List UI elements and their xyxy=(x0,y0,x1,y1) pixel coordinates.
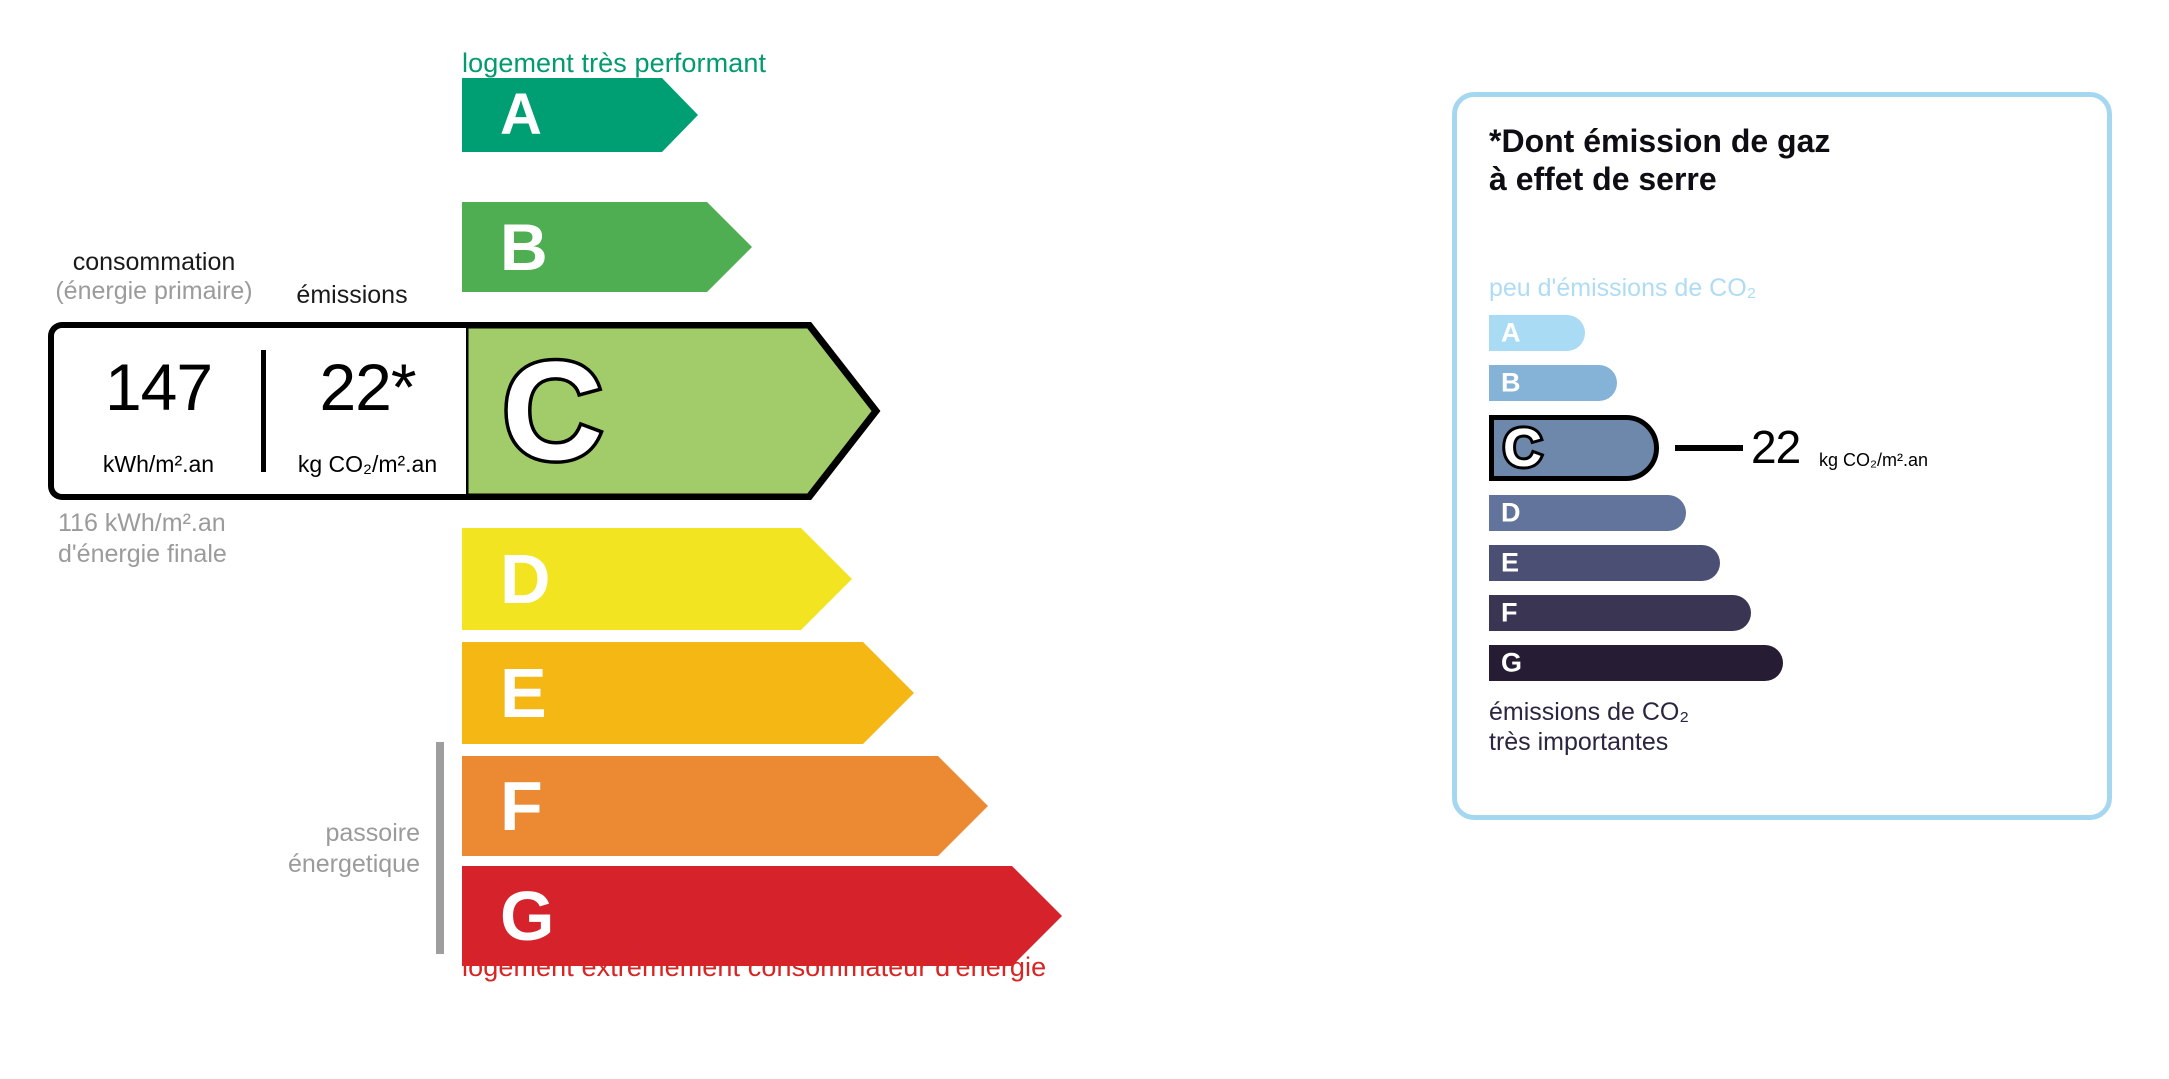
co2-bar-b-letter: B xyxy=(1501,370,1521,397)
co2-bar-d-letter: D xyxy=(1501,500,1521,527)
energy-band-f-shape xyxy=(462,756,988,856)
passoire-indicator-bar xyxy=(436,742,444,954)
dpe-energy-label: logement très performant A B C xyxy=(0,0,2169,1079)
co2-bar-g-shape xyxy=(1489,645,1783,681)
final-energy-note: 116 kWh/m².an d'énergie finale xyxy=(58,508,227,569)
energy-band-g-shape xyxy=(462,866,1062,966)
co2-bar-c-letter: C xyxy=(1503,421,1542,475)
passoire-label: passoire énergetique xyxy=(240,818,420,879)
energy-band-c-current: C xyxy=(462,322,882,500)
energy-performance-chart: logement très performant A B C xyxy=(0,0,1330,1079)
emissions-unit: kg CO₂/m².an xyxy=(263,453,472,476)
co2-bottom-line1: émissions de CO₂ xyxy=(1489,697,1689,727)
top-caption-very-efficient: logement très performant xyxy=(462,48,766,79)
co2-bar-g-letter: G xyxy=(1501,650,1522,677)
co2-panel-title: *Dont émission de gaz à effet de serre xyxy=(1489,122,1830,199)
co2-callout-leader-line xyxy=(1675,445,1743,451)
co2-callout-value: 22 xyxy=(1751,424,1800,470)
final-energy-line2: d'énergie finale xyxy=(58,539,227,570)
passoire-line2: énergetique xyxy=(240,849,420,880)
energy-band-e-shape xyxy=(462,642,914,744)
co2-bar-f-shape xyxy=(1489,595,1751,631)
energy-band-b: B xyxy=(462,202,752,292)
energy-band-a-shape xyxy=(462,78,698,152)
emissions-value: 22* xyxy=(263,354,472,420)
co2-bar-a-letter: A xyxy=(1501,320,1521,347)
final-energy-line1: 116 kWh/m².an xyxy=(58,508,227,539)
co2-bottom-line2: très importantes xyxy=(1489,727,1689,757)
energy-band-f: F xyxy=(462,756,988,856)
label-consumption-line2: (énergie primaire) xyxy=(48,277,260,306)
label-consumption-line1: consommation xyxy=(73,248,236,276)
co2-bar-e-letter: E xyxy=(1501,550,1519,577)
co2-callout-unit: kg CO₂/m².an xyxy=(1819,451,1928,469)
co2-title-line2: à effet de serre xyxy=(1489,160,1830,198)
consumption-value: 147 xyxy=(54,354,263,420)
co2-emissions-panel: *Dont émission de gaz à effet de serre p… xyxy=(1452,92,2112,820)
energy-band-b-shape xyxy=(462,202,752,292)
co2-bar-f-letter: F xyxy=(1501,600,1518,627)
co2-top-caption: peu d'émissions de CO₂ xyxy=(1489,274,1756,303)
co2-bar-e-shape xyxy=(1489,545,1720,581)
energy-band-g: G xyxy=(462,866,1062,966)
energy-band-e: E xyxy=(462,642,914,744)
energy-band-d: D xyxy=(462,528,852,630)
consumption-unit: kWh/m².an xyxy=(54,453,263,476)
energy-band-a: A xyxy=(462,78,698,152)
energy-band-c-shape xyxy=(462,322,882,500)
consumption-cell: 147 kWh/m².an xyxy=(54,328,263,494)
bottom-caption-very-consuming: logement extrêmement consommateur d'éner… xyxy=(462,952,1046,983)
values-box: 147 kWh/m².an 22* kg CO₂/m².an xyxy=(48,322,466,500)
co2-title-line1: *Dont émission de gaz xyxy=(1489,122,1830,160)
label-emissions: émissions xyxy=(268,281,436,310)
energy-band-d-shape xyxy=(462,528,852,630)
label-consumption: consommation (énergie primaire) xyxy=(48,248,260,306)
emissions-cell: 22* kg CO₂/m².an xyxy=(263,328,472,494)
passoire-line1: passoire xyxy=(240,818,420,849)
co2-bottom-caption: émissions de CO₂ très importantes xyxy=(1489,697,1689,757)
